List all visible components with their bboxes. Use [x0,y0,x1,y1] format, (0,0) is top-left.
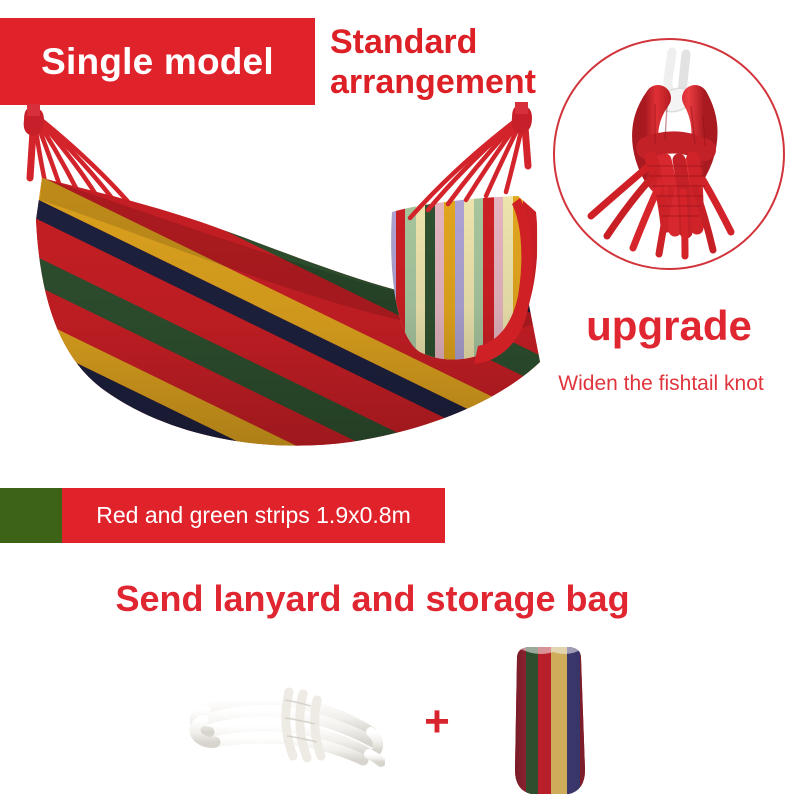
storage-bag-icon [503,642,603,800]
bonus-headline: Send lanyard and storage bag [0,578,745,620]
rope-lanyard-icon [185,670,385,770]
headline-line-1: Standard [330,22,580,62]
upgrade-title: upgrade [553,302,785,350]
single-model-badge-label: Single model [41,41,274,83]
upgrade-subtitle: Widen the fishtail knot [526,372,796,396]
green-color-swatch [0,488,62,543]
spec-bar: Red and green strips 1.9x0.8m [0,488,445,543]
accessory-row: + [0,632,800,800]
striped-hammock-image [0,100,560,460]
single-model-badge: Single model [0,18,315,105]
spec-label: Red and green strips 1.9x0.8m [96,502,411,529]
fishtail-knot-closeup-icon [553,38,785,270]
spec-label-container: Red and green strips 1.9x0.8m [62,488,445,543]
standard-arrangement-headline: Standard arrangement [330,22,580,102]
headline-line-2: arrangement [330,62,580,102]
product-promo-image: Single model Standard arrangement [0,0,800,800]
plus-symbol: + [415,702,459,746]
